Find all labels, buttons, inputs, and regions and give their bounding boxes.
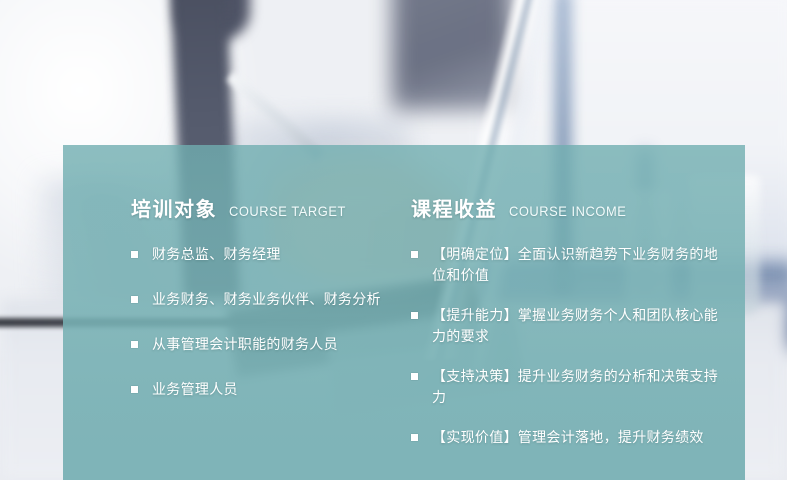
bullet-square-icon bbox=[411, 312, 418, 319]
section-heading: 课程收益 COURSE INCOME bbox=[411, 193, 721, 222]
bullet-list: 【明确定位】全面认识新趋势下业务财务的地位和价值 【提升能力】掌握业务财务个人和… bbox=[411, 244, 721, 448]
bullet-square-icon bbox=[131, 251, 138, 258]
section-title-cn: 培训对象 bbox=[131, 193, 217, 222]
bullet-square-icon bbox=[411, 373, 418, 380]
list-item: 从事管理会计职能的财务人员 bbox=[131, 334, 421, 355]
list-item: 【提升能力】掌握业务财务个人和团队核心能力的要求 bbox=[411, 305, 721, 347]
list-item-text: 业务管理人员 bbox=[152, 381, 238, 397]
list-item-text: 财务总监、财务经理 bbox=[152, 246, 281, 262]
section-heading: 培训对象 COURSE TARGET bbox=[131, 193, 421, 222]
bullet-square-icon bbox=[131, 386, 138, 393]
list-item: 【支持决策】提升业务财务的分析和决策支持力 bbox=[411, 366, 721, 408]
list-item-text: 业务财务、财务业务伙伴、财务分析 bbox=[152, 291, 381, 307]
content-overlay-panel: 培训对象 COURSE TARGET 财务总监、财务经理 业务财务、财务业务伙伴… bbox=[63, 145, 745, 480]
list-item-text: 【明确定位】全面认识新趋势下业务财务的地位和价值 bbox=[432, 246, 718, 283]
bullet-square-icon bbox=[411, 251, 418, 258]
list-item-text: 【实现价值】管理会计落地，提升财务绩效 bbox=[432, 429, 704, 445]
section-title-en: COURSE TARGET bbox=[229, 203, 346, 219]
bullet-square-icon bbox=[131, 341, 138, 348]
list-item: 业务管理人员 bbox=[131, 379, 421, 400]
slide-canvas: 培训对象 COURSE TARGET 财务总监、财务经理 业务财务、财务业务伙伴… bbox=[0, 0, 787, 480]
bullet-square-icon bbox=[411, 434, 418, 441]
section-title-cn: 课程收益 bbox=[411, 193, 497, 222]
list-item: 【明确定位】全面认识新趋势下业务财务的地位和价值 bbox=[411, 244, 721, 286]
list-item-text: 【支持决策】提升业务财务的分析和决策支持力 bbox=[432, 368, 718, 405]
bullet-list: 财务总监、财务经理 业务财务、财务业务伙伴、财务分析 从事管理会计职能的财务人员… bbox=[131, 244, 421, 400]
bullet-square-icon bbox=[131, 296, 138, 303]
section-course-income: 课程收益 COURSE INCOME 【明确定位】全面认识新趋势下业务财务的地位… bbox=[411, 193, 721, 467]
section-course-target: 培训对象 COURSE TARGET 财务总监、财务经理 业务财务、财务业务伙伴… bbox=[131, 193, 421, 400]
list-item-text: 【提升能力】掌握业务财务个人和团队核心能力的要求 bbox=[432, 307, 718, 344]
list-item: 财务总监、财务经理 bbox=[131, 244, 421, 265]
list-item: 业务财务、财务业务伙伴、财务分析 bbox=[131, 289, 421, 310]
list-item-text: 从事管理会计职能的财务人员 bbox=[152, 336, 338, 352]
list-item: 【实现价值】管理会计落地，提升财务绩效 bbox=[411, 427, 721, 448]
section-title-en: COURSE INCOME bbox=[509, 203, 626, 219]
